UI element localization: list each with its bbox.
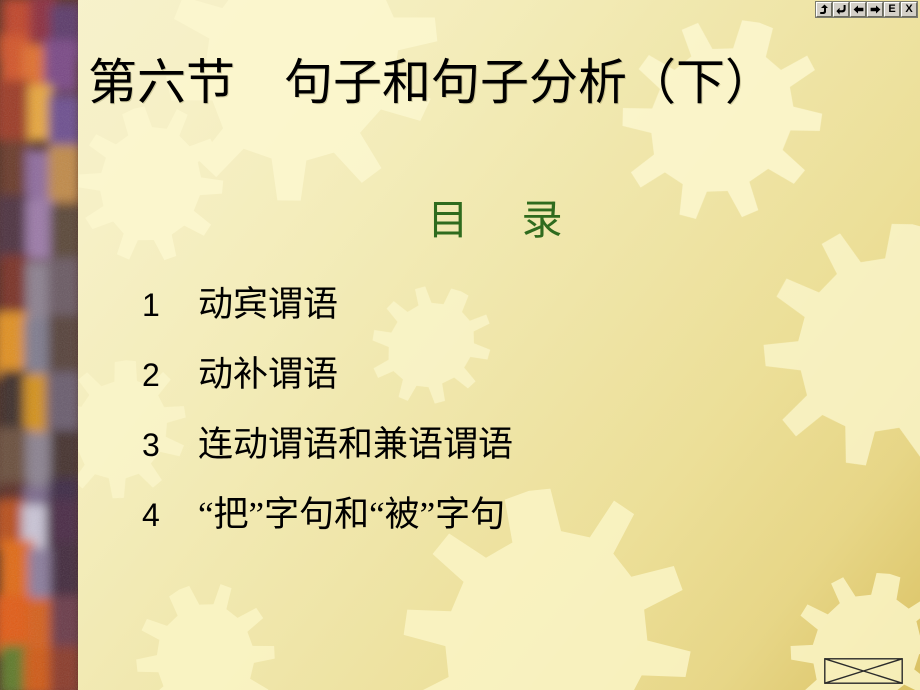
close-button[interactable]: X — [901, 2, 917, 17]
letter-e-icon: E — [888, 4, 895, 15]
list-item[interactable]: 4 “把”字句和“被”字句 — [142, 486, 842, 556]
arrow-right-icon — [870, 4, 881, 15]
toc-list: 1 动宾谓语 2 动补谓语 3 连动谓语和兼语谓语 4 “把”字句和“被”字句 — [142, 276, 842, 556]
navigation-toolbar[interactable]: E X — [815, 1, 918, 18]
slide-title: 第六节 句子和句子分析（下） — [88, 53, 888, 113]
go-back-button[interactable] — [833, 2, 849, 17]
list-item[interactable]: 3 连动谓语和兼语谓语 — [142, 416, 842, 486]
list-item[interactable]: 2 动补谓语 — [142, 346, 842, 416]
go-back-icon — [836, 4, 847, 15]
decorative-photo-strip — [0, 0, 78, 690]
toc-heading: 目 录 — [0, 186, 920, 246]
list-item[interactable]: 1 动宾谓语 — [142, 276, 842, 346]
list-item-number: 2 — [142, 357, 198, 394]
list-item-label: “把”字句和“被”字句 — [198, 486, 505, 537]
go-up-button[interactable] — [816, 2, 832, 17]
list-item-label: 连动谓语和兼语谓语 — [198, 416, 513, 467]
list-item-number: 3 — [142, 427, 198, 464]
list-item-number: 4 — [142, 497, 198, 534]
previous-button[interactable] — [850, 2, 866, 17]
list-item-label: 动补谓语 — [198, 346, 338, 397]
image-placeholder-box — [824, 658, 903, 684]
letter-e-button[interactable]: E — [884, 2, 900, 17]
next-button[interactable] — [867, 2, 883, 17]
list-item-number: 1 — [142, 287, 198, 324]
close-x-icon: X — [905, 4, 912, 15]
go-up-icon — [819, 4, 830, 15]
list-item-label: 动宾谓语 — [198, 276, 338, 327]
arrow-left-icon — [853, 4, 864, 15]
presentation-slide: 第六节 句子和句子分析（下） 目 录 1 动宾谓语 2 动补谓语 3 连动谓语和… — [0, 0, 920, 690]
